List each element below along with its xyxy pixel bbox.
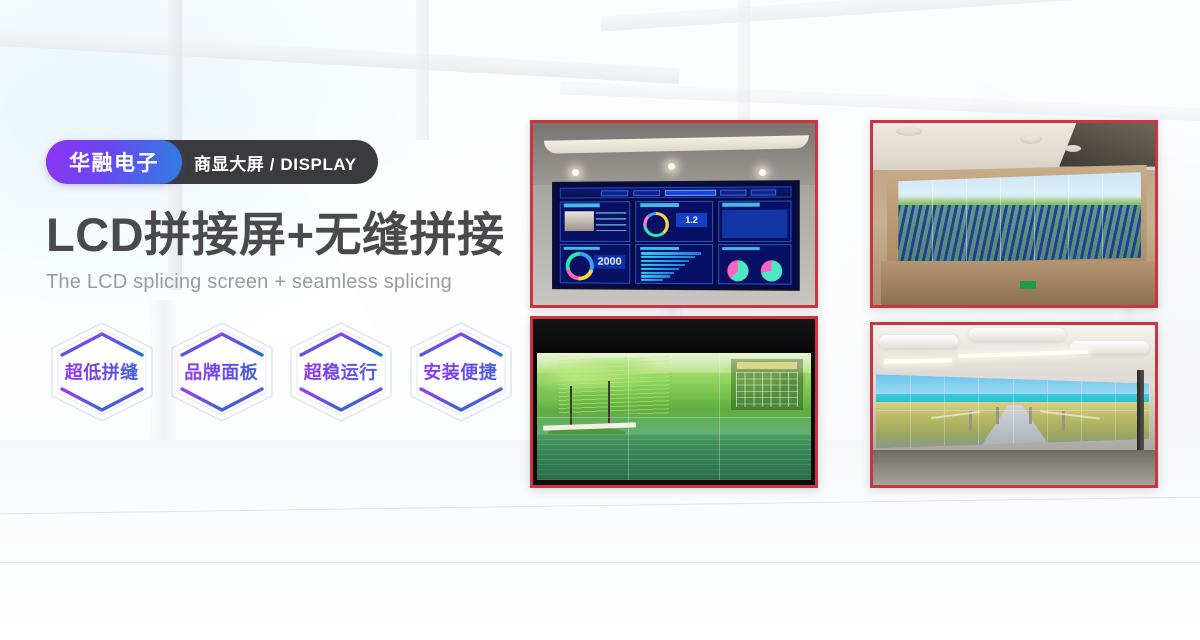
rank-bar	[641, 275, 669, 277]
video-wall-screen	[537, 353, 811, 480]
video-wall-screen	[876, 371, 1150, 448]
brand-category-label: 商显大屏 / DISPLAY	[182, 140, 375, 184]
brand-name-pill: 华融电子	[46, 140, 182, 184]
donut-chart	[643, 212, 669, 238]
brand-badge: 华融电子 商显大屏 / DISPLAY	[46, 140, 378, 184]
panel-seam	[1000, 172, 1001, 263]
panel-heading-bar	[564, 247, 600, 250]
panel-seam	[537, 417, 811, 418]
pie-chart	[727, 261, 748, 282]
feature-badge-2: 超稳运行	[285, 320, 397, 424]
video-wall-screen	[898, 172, 1141, 263]
panel-seam	[1068, 172, 1069, 263]
tree-trunk	[570, 386, 572, 429]
panel-thumbnail	[565, 211, 594, 231]
panel-heading-bar	[722, 247, 759, 250]
metric-count-value: 2000	[594, 255, 626, 270]
dashboard-nav-chip	[720, 190, 746, 196]
dashboard-title-chip	[665, 190, 716, 196]
rank-bar	[641, 279, 663, 281]
gallery-photo-wood-room-solar-wall[interactable]	[870, 120, 1158, 308]
lake-water	[537, 434, 811, 480]
ceiling-light-icon	[759, 169, 766, 176]
ceiling-light-icon	[1020, 134, 1042, 144]
lobby-floor	[873, 450, 1155, 485]
metric-value: 1.2	[675, 213, 707, 226]
panel-heading-bar	[640, 247, 679, 250]
feature-badge-list: 超低拼缝 品牌面板 超稳运行	[46, 320, 516, 424]
rank-bar	[641, 264, 685, 266]
panel-seam	[876, 410, 1150, 411]
dashboard-panel-ranking	[635, 244, 712, 285]
gallery-photo-lake-scene-wall[interactable]	[530, 316, 818, 488]
panel-heading-bar	[564, 204, 600, 207]
page-title: LCD拼接屏+无缝拼接	[46, 210, 516, 261]
gallery-photo-control-room-dashboard[interactable]: 1.2 2000	[530, 120, 818, 308]
banner-stage: 华融电子 商显大屏 / DISPLAY LCD拼接屏+无缝拼接 The LCD …	[0, 0, 1200, 640]
solar-farm-image	[898, 205, 1141, 263]
feature-badge-3: 安装便捷	[405, 320, 517, 424]
feature-badge-label: 超稳运行	[285, 358, 397, 384]
ceiling-cove-icon	[879, 335, 958, 348]
ceiling-vent-icon	[896, 127, 922, 136]
rank-bar	[641, 268, 679, 270]
pie-chart	[760, 261, 782, 283]
page-subtitle: The LCD splicing screen + seamless splic…	[46, 271, 516, 294]
ceiling-light-strip	[884, 358, 952, 363]
rank-bar	[641, 272, 674, 274]
calendar-header	[737, 362, 797, 369]
lobby-pillar	[1137, 370, 1144, 453]
dashboard-nav-chip	[633, 190, 660, 196]
panel-heading-bar	[722, 203, 759, 206]
ceiling-light-icon	[1065, 145, 1081, 152]
background-beam	[416, 0, 429, 140]
dashboard-nav-chip	[601, 190, 628, 196]
rank-bar	[641, 260, 689, 262]
ceiling-cove-icon	[969, 328, 1065, 341]
feature-badge-1: 品牌面板	[166, 320, 278, 424]
photo-ceiling	[533, 123, 815, 185]
panel-seam	[966, 172, 967, 263]
wall-base-panel	[881, 261, 1155, 305]
feature-badge-label: 品牌面板	[166, 358, 278, 384]
banner-copy-block: 华融电子 商显大屏 / DISPLAY LCD拼接屏+无缝拼接 The LCD …	[46, 140, 516, 424]
calendar-overlay	[731, 359, 802, 410]
water-reflection	[537, 434, 811, 480]
video-wall-screen: 1.2 2000	[552, 180, 800, 291]
panel-seam	[1034, 172, 1035, 263]
dashboard-panel-pies	[718, 244, 792, 285]
dashboard-nav-chip	[751, 189, 777, 195]
dashboard-panel-overview	[560, 201, 631, 242]
dashboard-panel-flow	[718, 200, 792, 242]
panel-text-lines	[596, 212, 627, 231]
dashboard-top-bar	[560, 187, 792, 200]
dashboard-panel-distribution: 2000	[560, 244, 631, 284]
dashboard-timestamp	[565, 190, 594, 196]
feature-badge-label: 安装便捷	[405, 358, 517, 384]
wall-top-bezel	[533, 319, 815, 352]
panel-heading-bar	[640, 204, 679, 207]
flow-diagram	[722, 210, 787, 238]
calendar-grid	[736, 372, 799, 408]
exit-sign-icon	[1020, 281, 1036, 289]
rank-bar	[641, 253, 701, 255]
tree-trunk	[608, 381, 610, 429]
rank-bar	[641, 256, 695, 258]
panel-seam	[1102, 172, 1103, 263]
panel-seam	[932, 172, 933, 263]
donut-chart	[566, 252, 594, 280]
willow-branches	[559, 356, 668, 414]
feature-badge-0: 超低拼缝	[46, 320, 158, 424]
feature-badge-label: 超低拼缝	[46, 358, 158, 384]
dashboard-panel-donut: 1.2	[635, 201, 712, 242]
background-floor-line	[0, 562, 1200, 563]
gallery-photo-lobby-curved-wall[interactable]	[870, 322, 1158, 488]
